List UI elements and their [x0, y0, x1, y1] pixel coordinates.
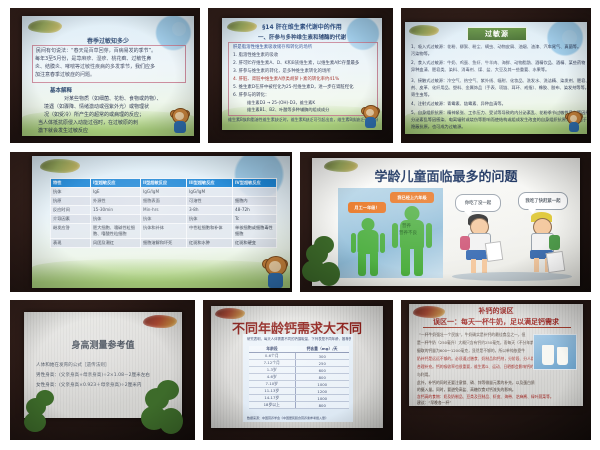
decor-tree-left: [24, 388, 64, 434]
mascot-lion-icon: [361, 105, 380, 129]
school-emblem-icon: [409, 25, 439, 36]
calcium-table-container: 研究表明，每天人体需要不同的钙摄取量，下列表是不同年龄，推荐的每日钙摄取量。 年…: [243, 334, 353, 422]
mascot-lion-icon: [262, 256, 288, 288]
quote-line-3: 炎、结膜炎、哮喘等过敏性疾病的多发季节，我们应多: [35, 63, 185, 70]
cell-ca-4: 1000: [295, 381, 349, 388]
body-line-4: 当人体抵抗原侵入动能过强时，在过敏原的刺: [38, 119, 190, 126]
milk-photo: [533, 334, 577, 370]
quote-line-2: 每年3至5月份，是荨麻疹、湿疹、桃花癣、过敏性鼻: [35, 55, 185, 62]
cell-1-2: 细胞表面: [141, 197, 187, 206]
cell-age-0: 0-6个月: [249, 353, 295, 360]
bullet-5: 4. 肝脏、肾脏中维生素A原类胡萝卜素的转化率约41%: [233, 76, 375, 82]
slide-title: §14 肝在维生素代谢中的作用: [222, 22, 382, 31]
table-row: 继发应答 肥大细胞、嗜碱性粒细胞、嗜酸性粒细胞 抗体和补体 中性粒细胞和补体 单…: [51, 224, 277, 239]
slide-title: 补钙的误区: [409, 306, 583, 316]
height-bullet-2: 男性身高：(父亲身高+母亲身高)÷2×1.08－2厘米左右: [36, 372, 178, 378]
allergen-item-3-wrap: 剂、皮革、化纤用品、塑料、金属饰品（手表、项链、耳环、戒指）、橡胶、胶布、染发剂…: [411, 85, 587, 91]
table-row: 抗原 外源性 细胞表面 可溶性 细胞内: [51, 197, 277, 206]
table-row: 反应时间 15-30min Min-hrs 3-8h 48-72h: [51, 206, 277, 215]
school-emblem-icon: [40, 159, 80, 173]
cell-5-4: 红斑和硬变: [233, 239, 277, 248]
cell-age-6: 14-17岁: [249, 395, 295, 402]
myth-line-7: 此外，补钙的同时还要注意镁、磷、锌等微量元素的补充，以及蛋白质: [417, 380, 575, 386]
projection-screen: 补钙的误区 误区一：每天一杯牛奶，足以满足钙需求 “一杯牛奶强壮一个民族”，牛奶…: [409, 304, 583, 406]
cell-0-0: 抗体: [51, 188, 91, 197]
cell-1-4: 细胞内: [233, 197, 277, 206]
photo-panel-hypersensitivity-table: 特性 I型超敏反应 II型超敏反应 III型超敏反应 IV型超敏反应 抗体 Ig…: [10, 152, 292, 292]
photo-panel-spring-allergy: 春季过敏知多少 民间有句说法：“春天是百草回芽，百病易发的季节”。 每年3至5月…: [10, 8, 200, 143]
table-row: 介导因素 抗体 抗体 抗体 Tc: [51, 215, 277, 224]
projection-screen: 春季过敏知多少 民间有句说法：“春天是百草回芽，百病易发的季节”。 每年3至5月…: [22, 16, 194, 136]
cell-4-2: 抗体和补体: [141, 224, 187, 239]
col-header-2: II型超敏反应: [141, 179, 187, 188]
slide-title: 春季过敏知多少: [22, 36, 194, 45]
decor-sun-circle: [562, 30, 577, 45]
photo-panel-height-reference: 身高测量参考值 人体和她在发育的公式［遗传法则］ 男性身高：(父亲身高+母亲身高…: [10, 300, 195, 440]
decor-sun-circle: [172, 22, 186, 36]
allergen-item-1-wrap: 污染物等。: [411, 51, 471, 57]
cell-1-3: 可溶性: [187, 197, 233, 206]
ground-shadow: [452, 272, 572, 281]
cell-1-1: 外源性: [91, 197, 141, 206]
cell-4-3: 中性粒细胞和补体: [187, 224, 233, 239]
cell-5-2: 细胞溶解和坏死: [141, 239, 187, 248]
cell-3-2: 抗体: [141, 215, 187, 224]
table-row: 4-6岁 800: [249, 374, 349, 381]
myth-line-2: 是一杯牛奶（250毫升）大概只含有钙约250毫克，而每天（不分年龄）应该: [417, 340, 533, 346]
table-row: 11-13岁 1200: [249, 388, 349, 395]
slide-photo-collage: 春季过敏知多少 民间有句说法：“春天是百草回芽，百病易发的季节”。 每年3至5月…: [0, 0, 600, 450]
bullet-7: 6. 肝参与的转化：: [233, 92, 375, 98]
footnote: 维生素B族和脂溶性维生素缺乏时，维生素K缺乏可引起出血，维生素B族缺乏引起代谢障…: [228, 117, 378, 123]
cell-0-3: IgG/IgM: [187, 188, 233, 197]
calcium-requirement-table: 年龄段 钙含量（mg）/天 0-6个月 300 7-12个月 250: [249, 346, 349, 409]
cell-2-4: 48-72h: [233, 206, 277, 215]
myth-line-8: 的摄入量。同时，要避免高盐、高糖饮食对钙流失的影响。: [417, 387, 575, 393]
bullet-6: 5. 维生素D在肝中被羟化为25-羟维生素D，进一步在肾脏羟化: [233, 84, 375, 90]
col-header-1: I型超敏反应: [91, 179, 141, 188]
myth-line-10: 建议：“早晚各一杯”: [417, 400, 477, 406]
table-row: 18岁以上 800: [249, 402, 349, 409]
allergen-item-3-wrap2: 寄生虫等。: [411, 92, 491, 98]
cell-1-0: 抗原: [51, 197, 91, 206]
bullet-3: 2. 肝可贮存维生素A、D、K和B族维生素，以维生素A贮存量最多: [233, 60, 375, 66]
cell-ca-1: 250: [295, 360, 349, 367]
cell-ca-6: 1000: [295, 395, 349, 402]
cell-ca-0: 300: [295, 353, 349, 360]
cartoon-girl-student: [458, 214, 502, 276]
cell-2-0: 反应时间: [51, 206, 91, 215]
mascot-lion-icon: [170, 108, 190, 134]
cell-3-4: Tc: [233, 215, 277, 224]
allergen-item-2: 2、食入式过敏源：牛奶、鸡蛋、鱼虾、牛羊肉、海鲜、动物脂肪、酒精饮品、酒精、某些…: [411, 60, 587, 66]
exam-paper-icon: [485, 241, 503, 262]
allergen-item-2-wrap: 异种血清、肥皂类、染料、消毒剂、煤、盐、大豆及其一些重要、水果等。: [411, 67, 561, 73]
bullet-2: 1. 脂溶性维生素的吸收: [233, 52, 375, 58]
body-box: 肝是脂溶性维生素吸收储存和转化的场所 1. 脂溶性维生素的吸收 2. 肝可贮存维…: [228, 42, 378, 116]
table-row: 抗体 IgE IgG/IgM IgG/IgM: [51, 188, 277, 197]
cartoon-boy-student: [520, 212, 566, 276]
cell-age-1: 7-12个月: [249, 360, 295, 367]
table-row: 表现 风团及潮红 细胞溶解和坏死 红斑和水肿 红斑和硬变: [51, 239, 277, 248]
projection-screen: §14 肝在维生素代谢中的作用 一、肝参与多种维生素和辅酶的代谢 肝是脂溶性维生…: [222, 18, 382, 130]
quote-line-4: 加注意春季过敏症的问题。: [35, 71, 185, 78]
sub-bullet-1: 维生素D3 → 25-(OH)-D3，维生素K: [247, 100, 375, 106]
cell-ca-3: 800: [295, 374, 349, 381]
table-footnote: 数据来源：中国营养学会《中国居民膳食营养素参考摄入量》: [247, 416, 351, 420]
cell-3-0: 介导因素: [51, 215, 91, 224]
table-row: 7-10岁 1000: [249, 381, 349, 388]
cell-5-0: 表现: [51, 239, 91, 248]
body-line-5: 激下就会发生过敏反应: [38, 127, 190, 134]
cell-2-1: 15-30min: [91, 206, 141, 215]
photo-panel-calcium-by-age: 不同年龄钙需求大不同 研究表明，每天人体需要不同的钙摄取量，下列表是不同年龄，推…: [203, 300, 393, 440]
cell-age-7: 18岁以上: [249, 402, 295, 409]
myth-line-3: 摄取的钙量为600～1200毫克，显然是不够的，所以单纯依靠牛: [417, 348, 533, 354]
projection-screen: 过敏源 1、吸入式过敏源：花粉、柳絮、粉尘、螨虫、动物皮屑、油烟、油漆、汽车尾气…: [405, 22, 587, 134]
figure-photo-green-silhouettes: 营养 营养不良 月工一年级！ 我已经上六年级: [338, 188, 443, 278]
table-intro-line-1: 研究表明，每天人体需要不同的钙摄取量，下列表是不同年龄，推荐的每日钙摄取量。: [247, 336, 351, 341]
photo-panel-calcium-myths: 补钙的误区 误区一：每天一杯牛奶，足以满足钙需求 “一杯牛奶强壮一个民族”，牛奶…: [401, 300, 591, 440]
table-row: 14-17岁 1000: [249, 395, 349, 402]
hypersensitivity-comparison-table: 特性 I型超敏反应 II型超敏反应 III型超敏反应 IV型超敏反应 抗体 Ig…: [50, 178, 277, 248]
milk-glass-icon-2: [557, 347, 568, 365]
decor-tree: [302, 236, 342, 290]
figure-label-1: 营养: [402, 223, 411, 229]
allergen-item-5-wrap: 分泌紊乱等因感染、电离辐射或烧伤等影响而使结构或组成发生改变的自身组织抗原，以及…: [411, 117, 587, 123]
col-header-3: III型超敏反应: [187, 179, 233, 188]
green-figure-tall: 营养 营养不良: [396, 206, 428, 276]
speech-bubble-4: 我吃了快赶紧一起: [518, 192, 568, 210]
section-banner-allergen: 过敏源: [467, 27, 527, 41]
slide-title: 学龄儿童面临最多的问题: [312, 166, 580, 185]
table-row: 1-3岁 600: [249, 367, 349, 374]
school-emblem-icon: [28, 20, 62, 33]
cell-2-2: Min-hrs: [141, 206, 187, 215]
cell-2-3: 3-8h: [187, 206, 233, 215]
cell-0-2: IgG/IgM: [141, 188, 187, 197]
subhead-basic-explanation: 基本解释: [50, 86, 72, 94]
bullet-1: 肝是脂溶性维生素吸收储存和转化的场所: [233, 44, 375, 50]
table-header-row: 特性 I型超敏反应 II型超敏反应 III型超敏反应 IV型超敏反应: [51, 179, 277, 188]
height-bullet-1: 人体和她在发育的公式［遗传法则］: [36, 362, 178, 368]
cell-5-1: 风团及潮红: [91, 239, 141, 248]
cell-ca-5: 1200: [295, 388, 349, 395]
mascot-lion-icon: [565, 111, 583, 133]
projection-screen: 不同年龄钙需求大不同 研究表明，每天人体需要不同的钙摄取量，下列表是不同年龄，推…: [211, 306, 383, 428]
photo-panel-liver-vitamin: §14 肝在维生素代谢中的作用 一、肝参与多种维生素和辅酶的代谢 肝是脂溶性维生…: [208, 8, 393, 143]
cell-0-4: [233, 188, 277, 197]
bullet-4: 3. 肝参与维生素的转化，是多种维生素转化的场所: [233, 68, 375, 74]
cell-age-2: 1-3岁: [249, 367, 295, 374]
table-row: 7-12个月 250: [249, 360, 349, 367]
allergen-item-4: 4、注射式过敏源：青霉素、链霉素、异种血清等。: [411, 101, 587, 107]
photo-panel-allergen: 过敏源 1、吸入式过敏源：花粉、柳絮、粉尘、螨虫、动物皮屑、油烟、油漆、汽车尾气…: [401, 8, 591, 143]
col-header-4: IV型超敏反应: [233, 179, 277, 188]
cell-5-3: 红斑和水肿: [187, 239, 233, 248]
speech-bubble-3: 你吃了没一起: [455, 194, 501, 212]
cell-3-1: 抗体: [91, 215, 141, 224]
projection-screen: 学龄儿童面临最多的问题 营养: [312, 158, 580, 286]
col-header-0: 特性: [51, 179, 91, 188]
cell-3-3: 抗体: [187, 215, 233, 224]
cell-age-5: 11-13岁: [249, 388, 295, 395]
myth-line-1: “一杯牛奶强壮一个民族”，牛奶确实是补钙的最佳食品之一，但: [419, 332, 531, 338]
figure-label-2: 营养不良: [399, 230, 417, 236]
speech-bubble-1: 月工一年级！: [348, 202, 386, 213]
allergen-item-5-wrap2: 隐蔽抗原，也可成为过敏源。: [411, 124, 531, 130]
body-line-1: 对某些物质（如细菌、花粉、食物或药物）、: [64, 95, 192, 102]
speech-bubble-2: 我已经上六年级: [390, 192, 434, 203]
cell-ca-7: 800: [295, 402, 349, 409]
school-emblem-icon: [143, 315, 177, 328]
cell-0-1: IgE: [91, 188, 141, 197]
report-card-icon: [546, 251, 566, 273]
milk-glass-icon: [542, 345, 554, 365]
cell-4-1: 肥大细胞、嗜碱性粒细胞、嗜酸性粒细胞: [91, 224, 141, 239]
slide-subtitle: 误区一：每天一杯牛奶，足以满足钙需求: [409, 317, 583, 327]
table-row: 0-6个月 300: [249, 353, 349, 360]
cell-age-3: 4-6岁: [249, 374, 295, 381]
subtitle-underline: [423, 327, 571, 328]
allergen-item-3: 3、接触式过敏源：冷空气、热空气、紫外线、辐射、化妆品、洗发水、洗洁精、染发剂、…: [411, 78, 587, 84]
projection-screen: 特性 I型超敏反应 II型超敏反应 III型超敏反应 IV型超敏反应 抗体 Ig…: [32, 156, 290, 288]
photo-panel-school-children: 学龄儿童面临最多的问题 营养: [300, 152, 591, 292]
cell-ca-2: 600: [295, 367, 349, 374]
sub-bullet-2: 维生素B1、B2、叶酸等多种辅酶的组成成分: [247, 107, 375, 113]
decor-tree-right: [139, 380, 185, 436]
slide-subtitle: 一、肝参与多种维生素和辅酶的代谢: [222, 33, 382, 41]
slide-title: 身高测量参考值: [24, 338, 182, 351]
cell-age-4: 7-10岁: [249, 381, 295, 388]
cell-4-0: 继发应答: [51, 224, 91, 239]
allergen-item-5: 5、自身组织抗原：精神紧张、工作压力、受试等导致的内分泌紊乱、花粉季节过敏性鼻炎…: [411, 110, 587, 116]
myth-line-6: 与利用。: [417, 372, 457, 378]
cell-4-4: 单核细胞或细胞毒性细胞: [233, 224, 277, 239]
quote-line-1: 民间有句说法：“春天是百草回芽，百病易发的季节”。: [36, 47, 184, 54]
allergen-item-1: 1、吸入式过敏源：花粉、柳絮、粉尘、螨虫、动物皮屑、油烟、油漆、汽车尾气、真菌等…: [411, 44, 587, 50]
quote-box: 民间有句说法：“春天是百草回芽，百病易发的季节”。 每年3至5月份，是荨麻疹、湿…: [32, 45, 186, 83]
green-figure-short: [354, 218, 382, 276]
